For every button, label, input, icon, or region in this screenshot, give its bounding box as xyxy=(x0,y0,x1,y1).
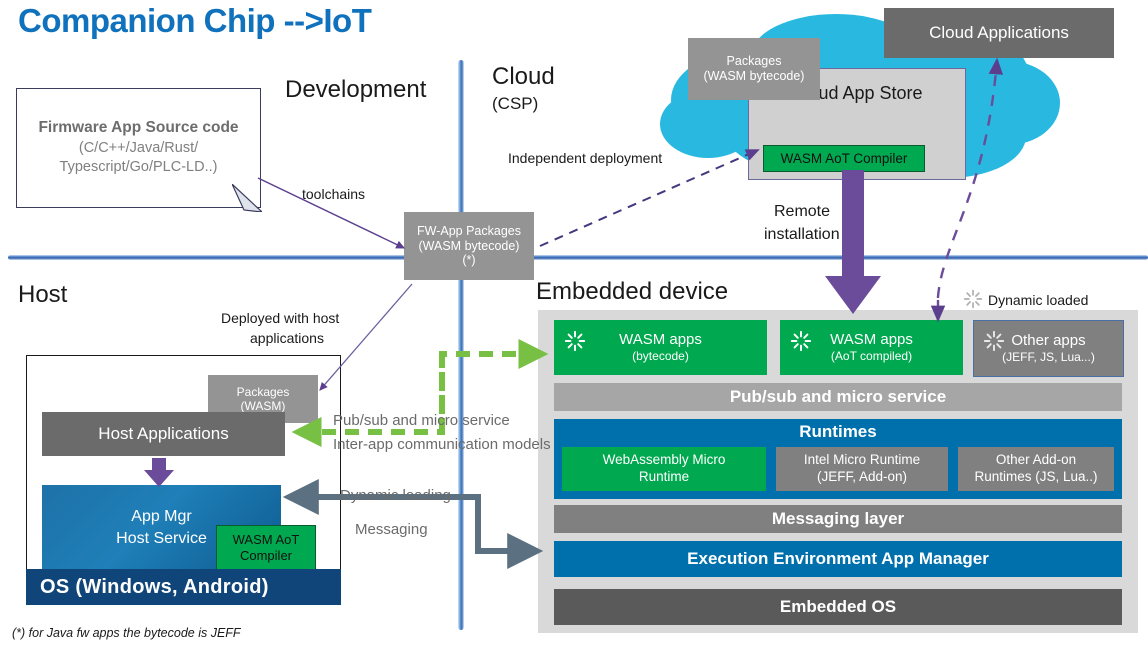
page-title: Companion Chip -->IoT xyxy=(18,2,371,40)
messaging-layer-label: Messaging layer xyxy=(772,509,904,529)
app1-sub: (bytecode) xyxy=(632,349,689,363)
host-os-box[interactable]: OS (Windows, Android) xyxy=(26,569,341,605)
embedded-messaging-layer-row[interactable]: Messaging layer xyxy=(554,505,1122,533)
deployed-with-host-line1: Deployed with host xyxy=(221,310,339,326)
section-heading-embedded-device: Embedded device xyxy=(536,278,728,306)
remote-installation-line1: Remote xyxy=(774,203,830,221)
host-wasm-aot-compiler[interactable]: WASM AoT Compiler xyxy=(216,525,316,571)
messaging-label: Messaging xyxy=(355,521,428,538)
runtime1-line1: WebAssembly Micro xyxy=(603,452,726,469)
app2-sub: (AoT compiled) xyxy=(831,349,912,363)
cloud-wasm-aot-compiler[interactable]: WASM AoT Compiler xyxy=(763,145,925,172)
firmware-source-line2: (C/C++/Java/Rust/ xyxy=(79,139,198,159)
inter-app-communication-label: Inter-app communication models xyxy=(333,436,551,453)
embedded-os-label: Embedded OS xyxy=(780,597,896,617)
runtimes-title: Runtimes xyxy=(554,422,1122,442)
host-aot-line1: WASM AoT xyxy=(233,532,300,548)
runtime-cell-other-addon-runtimes[interactable]: Other Add-on Runtimes (JS, Lua..) xyxy=(958,447,1114,491)
cloud-packages-callout: Packages (WASM bytecode) xyxy=(688,38,820,100)
host-applications-box[interactable]: Host Applications xyxy=(42,412,285,456)
pubsub-micro-service-label: Pub/sub and micro service xyxy=(333,412,510,429)
host-applications-label: Host Applications xyxy=(98,424,228,444)
runtime3-line1: Other Add-on xyxy=(996,452,1076,469)
firmware-source-line3: Typescript/Go/PLC-LD..) xyxy=(60,158,218,178)
vertical-divider xyxy=(458,60,464,630)
fw-app-packages-line3: (*) xyxy=(462,253,475,268)
cloud-packages-line2: (WASM bytecode) xyxy=(704,69,805,84)
independent-deployment-label: Independent deployment xyxy=(508,150,662,166)
fw-app-packages-line2: (WASM bytecode) xyxy=(419,239,520,254)
app2-name: WASM apps xyxy=(830,331,913,349)
toolchains-label: toolchains xyxy=(302,186,365,202)
burst-icon xyxy=(983,330,1005,352)
host-packages-line1: Packages xyxy=(237,385,290,399)
runtime-cell-intel-micro-runtime[interactable]: Intel Micro Runtime (JEFF, Add-on) xyxy=(776,447,948,491)
app-mgr-line2: Host Service xyxy=(116,528,207,550)
section-heading-cloud: Cloud xyxy=(492,63,555,91)
section-subheading-csp: (CSP) xyxy=(492,94,538,114)
app3-sub: (JEFF, JS, Lua...) xyxy=(1002,350,1095,364)
cloud-applications-box[interactable]: Cloud Applications xyxy=(884,8,1114,58)
footnote: (*) for Java fw apps the bytecode is JEF… xyxy=(12,626,241,640)
cloud-packages-line1: Packages xyxy=(727,54,782,69)
burst-icon xyxy=(564,330,586,352)
embedded-os-row[interactable]: Embedded OS xyxy=(554,589,1122,625)
app3-name: Other apps xyxy=(1011,332,1085,350)
execution-env-label: Execution Environment App Manager xyxy=(687,549,989,569)
app1-name: WASM apps xyxy=(619,331,702,349)
embedded-runtimes-row[interactable]: Runtimes WebAssembly Micro Runtime Intel… xyxy=(554,419,1122,499)
runtime2-line1: Intel Micro Runtime xyxy=(804,452,920,469)
host-aot-line2: Compiler xyxy=(240,548,292,564)
remote-installation-line2: installation xyxy=(764,226,840,244)
horizontal-divider xyxy=(8,255,1148,260)
burst-icon xyxy=(963,289,983,309)
embedded-execution-env-row[interactable]: Execution Environment App Manager xyxy=(554,541,1122,577)
section-heading-development: Development xyxy=(285,76,426,104)
dynamic-loaded-legend: Dynamic loaded xyxy=(988,292,1088,308)
deployed-with-host-line2: applications xyxy=(250,330,324,346)
runtime-cell-wasm-micro-runtime[interactable]: WebAssembly Micro Runtime xyxy=(562,447,766,491)
burst-icon xyxy=(790,330,812,352)
runtime2-line2: (JEFF, Add-on) xyxy=(817,469,907,486)
fw-app-packages-callout: FW-App Packages (WASM bytecode) (*) xyxy=(404,212,534,280)
fw-app-packages-line1: FW-App Packages xyxy=(417,224,521,239)
runtime1-line2: Runtime xyxy=(639,469,689,486)
embedded-pubsub-label: Pub/sub and micro service xyxy=(730,387,946,407)
firmware-source-line1: Firmware App Source code xyxy=(38,118,238,139)
dynamic-loading-label: Dynamic loading xyxy=(340,487,451,504)
host-os-label: OS (Windows, Android) xyxy=(40,576,269,599)
cloud-applications-label: Cloud Applications xyxy=(929,23,1069,43)
section-heading-host: Host xyxy=(18,281,67,309)
firmware-source-code-box[interactable]: Firmware App Source code (C/C++/Java/Rus… xyxy=(16,88,261,208)
runtime3-line2: Runtimes (JS, Lua..) xyxy=(974,469,1097,486)
embedded-pubsub-row[interactable]: Pub/sub and micro service xyxy=(554,383,1122,411)
app-mgr-line1: App Mgr xyxy=(131,506,191,528)
callout-tail-icon xyxy=(232,184,262,212)
